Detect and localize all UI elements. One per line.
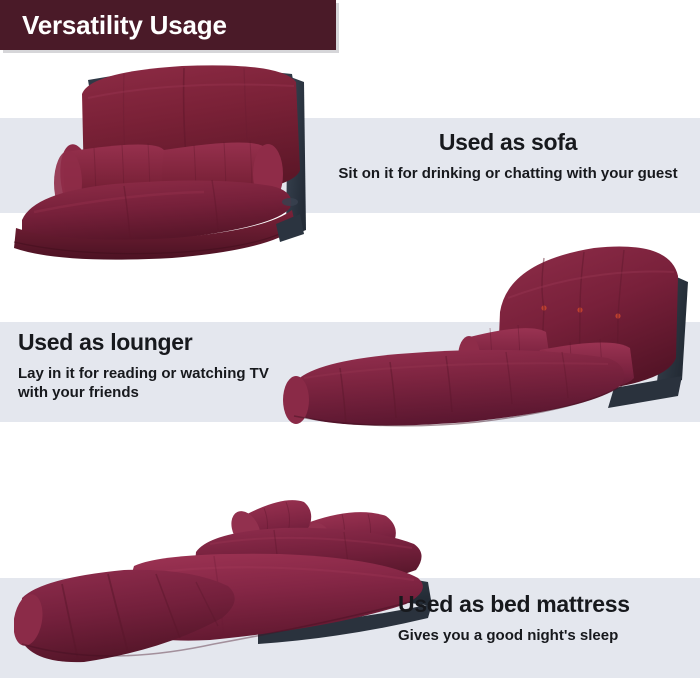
page-title: Versatility Usage: [0, 10, 227, 41]
lounger-title: Used as lounger: [18, 330, 348, 355]
sofa-caption: Used as sofa Sit on it for drinking or c…: [320, 130, 696, 183]
bed-subtitle: Gives you a good night's sleep: [398, 626, 698, 645]
sofa-illustration: [4, 52, 334, 262]
bed-title: Used as bed mattress: [398, 592, 698, 617]
bed-illustration: [14, 478, 439, 683]
lounger-subtitle-line-1: Lay in it for reading or watching TV: [18, 364, 348, 383]
lounger-subtitle-line-2: with your friends: [18, 383, 348, 402]
sofa-title: Used as sofa: [320, 130, 696, 155]
bed-caption: Used as bed mattress Gives you a good ni…: [398, 592, 698, 645]
sofa-subtitle: Sit on it for drinking or chatting with …: [320, 164, 696, 183]
lounger-caption: Used as lounger Lay in it for reading or…: [18, 330, 348, 403]
header-banner: Versatility Usage: [0, 0, 336, 50]
